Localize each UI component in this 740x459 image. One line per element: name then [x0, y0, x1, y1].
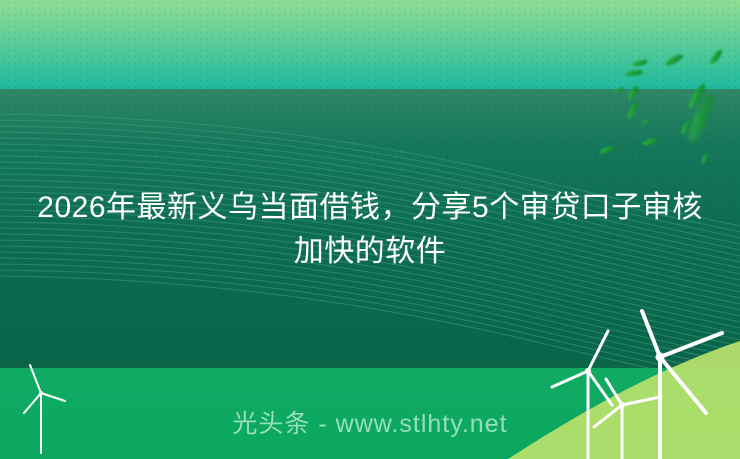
background-top-gradient-band	[0, 0, 740, 89]
watermark-text: 光头条 - www.stlhty.net	[0, 404, 740, 440]
banner-image: 2026年最新义乌当面借钱，分享5个审贷口子审核加快的软件 光头条 - www.…	[0, 0, 740, 459]
banner-title: 2026年最新义乌当面借钱，分享5个审贷口子审核加快的软件	[0, 186, 740, 274]
